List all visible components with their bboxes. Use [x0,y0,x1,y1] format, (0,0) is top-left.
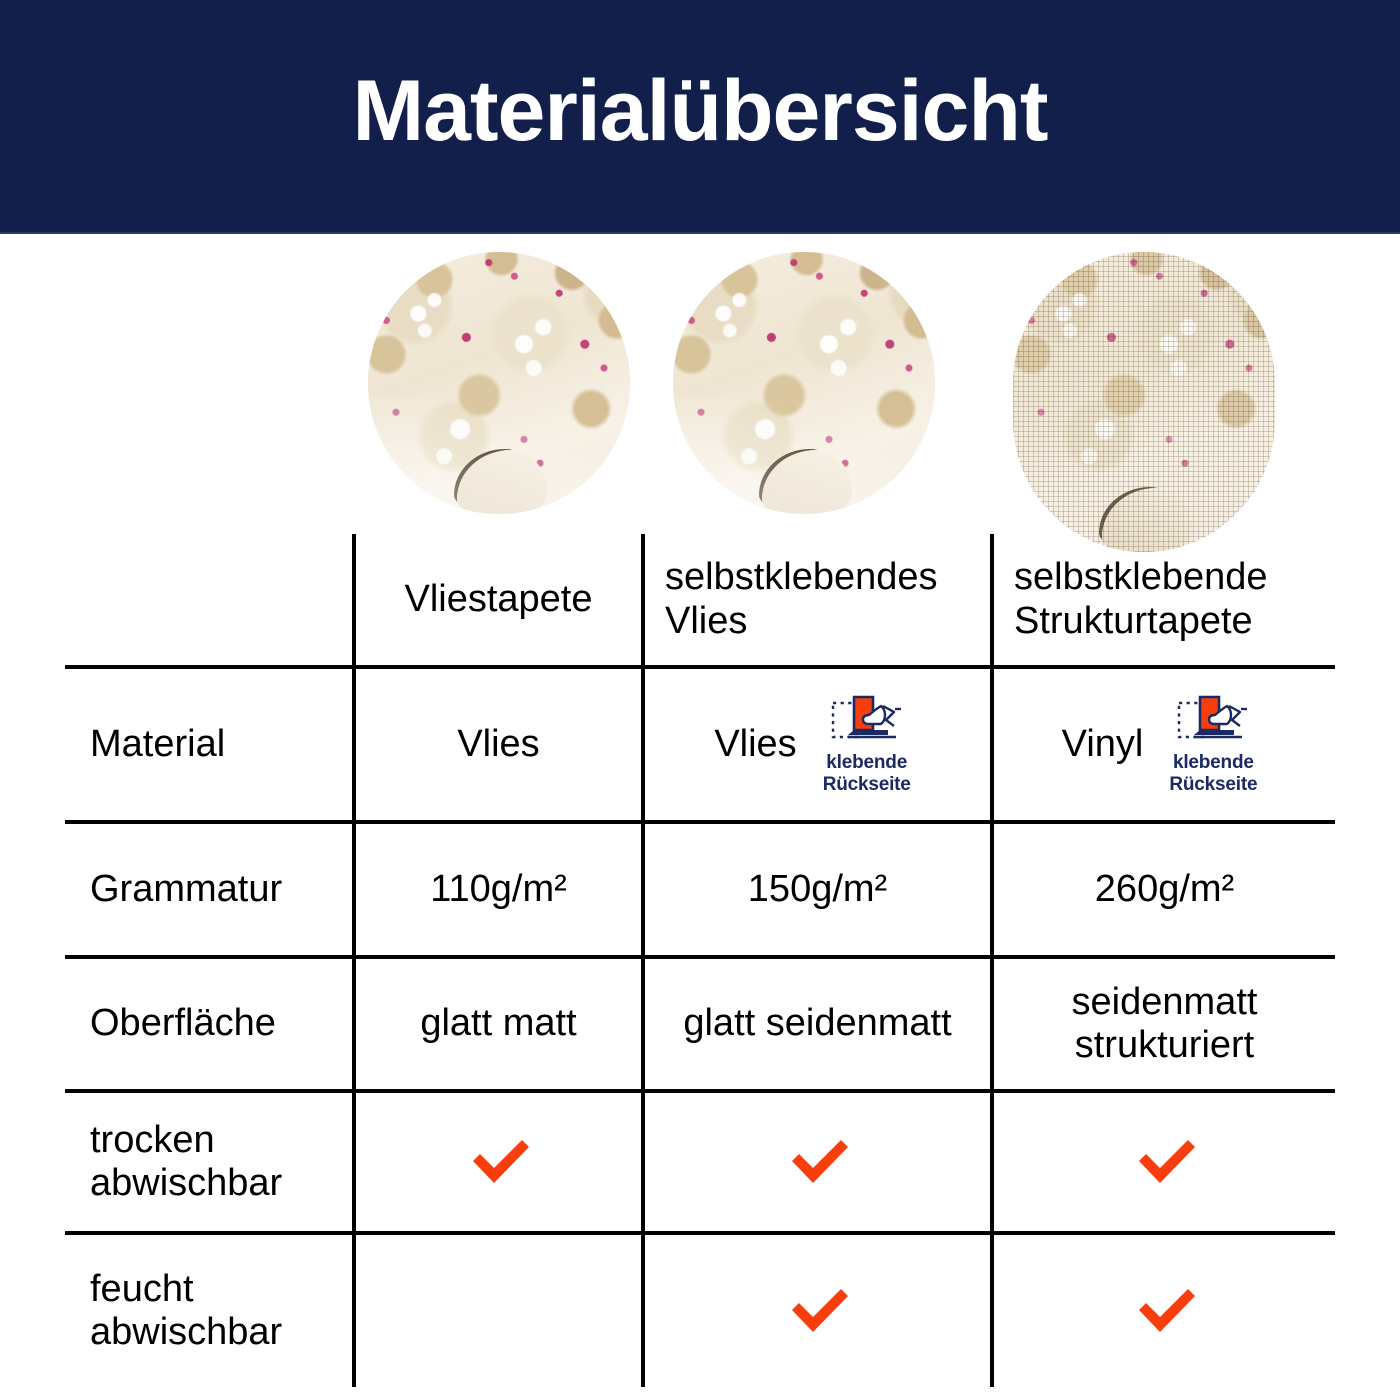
swatch-vliestapete [368,252,630,552]
cell-grammatur-vliestapete: 110g/m² [352,824,641,955]
badge-line-2: Rückseite [1169,774,1257,795]
badge-line-1: klebende [826,752,907,773]
sheen-overlay [368,396,630,514]
table-row-trocken-abwischbar: trocken abwischbar [65,1093,1335,1235]
cell-content: Vlies klebende [645,693,990,796]
checkmark-icon [786,1282,850,1340]
cell-content: Vlies [356,723,641,766]
cell-grammatur-selbstklebendes-vlies: 150g/m² [641,824,990,955]
cell-oberflaeche-vliestapete: glatt matt [352,959,641,1089]
swatch-circle-3 [1013,252,1275,552]
checkmark-icon [786,1133,850,1191]
swatch-circle-1 [368,252,630,514]
column-header-label: Vliestapete [404,578,592,621]
cell-oberflaeche-selbstklebendes-vlies: glatt seidenmatt [641,959,990,1089]
column-header-vliestapete: Vliestapete [352,534,641,665]
cell-trocken-selbstklebendes-vlies [641,1093,990,1231]
page-title: Materialübersicht [0,0,1400,232]
table-row-feucht-abwischbar: feucht abwischbar [65,1235,1335,1387]
adhesive-back-badge: klebende Rückseite [1159,693,1267,796]
table-header-row: Vliestapete selbstklebendes Vlies selbst… [65,534,1335,669]
column-header-label: selbstklebende Strukturtapete [1002,556,1327,643]
table-row-oberflaeche: Oberfläche glatt matt glatt seidenmatt s… [65,959,1335,1093]
adhesive-back-icon [1176,693,1250,749]
badge-line-2: Rückseite [823,774,911,795]
cell-value: Vlies [714,723,796,766]
checkmark-icon [467,1133,531,1191]
cell-feucht-selbstklebende-strukturtapete [990,1235,1335,1387]
cell-feucht-selbstklebendes-vlies [641,1235,990,1387]
cell-feucht-vliestapete [352,1235,641,1387]
row-label-feucht-abwischbar: feucht abwischbar [65,1235,352,1387]
cell-oberflaeche-selbstklebende-strukturtapete: seidenmatt strukturiert [990,959,1335,1089]
header-divider [0,232,1400,234]
material-overview-page: Materialübersicht [0,0,1400,1400]
cell-material-selbstklebende-strukturtapete: Vinyl klebende [990,669,1335,820]
adhesive-back-icon [830,693,904,749]
column-header-selbstklebendes-vlies: selbstklebendes Vlies [641,534,990,665]
table-header-corner [65,534,352,665]
checkmark-icon [1133,1133,1197,1191]
row-label-material: Material [65,669,352,820]
checkmark-icon [1133,1282,1197,1340]
column-header-label: selbstklebendes Vlies [653,556,982,643]
swatch-selbstklebendes-vlies [673,252,935,552]
table-row-grammatur: Grammatur 110g/m² 150g/m² 260g/m² [65,824,1335,959]
swatch-selbstklebende-strukturtapete [1013,252,1275,552]
cell-content: Vinyl klebende [994,693,1335,796]
badge-line-1: klebende [1173,752,1254,773]
cell-grammatur-selbstklebende-strukturtapete: 260g/m² [990,824,1335,955]
cell-value: Vinyl [1062,723,1144,766]
adhesive-back-badge-label: klebende Rückseite [823,752,911,796]
swatch-row [0,252,1400,552]
table-row-material: Material Vlies Vlies [65,669,1335,824]
row-label-oberflaeche: Oberfläche [65,959,352,1089]
structure-mesh-overlay [1013,252,1275,552]
column-header-selbstklebende-strukturtapete: selbstklebende Strukturtapete [990,534,1335,665]
cell-material-vliestapete: Vlies [352,669,641,820]
adhesive-back-badge-label: klebende Rückseite [1169,752,1257,796]
material-comparison-table: Vliestapete selbstklebendes Vlies selbst… [65,534,1335,1387]
row-label-grammatur: Grammatur [65,824,352,955]
cell-trocken-selbstklebende-strukturtapete [990,1093,1335,1231]
cell-trocken-vliestapete [352,1093,641,1231]
cell-value: Vlies [457,723,539,766]
row-label-trocken-abwischbar: trocken abwischbar [65,1093,352,1231]
cell-material-selbstklebendes-vlies: Vlies klebende [641,669,990,820]
swatch-circle-2 [673,252,935,514]
adhesive-back-badge: klebende Rückseite [813,693,921,796]
sheen-overlay [673,396,935,514]
